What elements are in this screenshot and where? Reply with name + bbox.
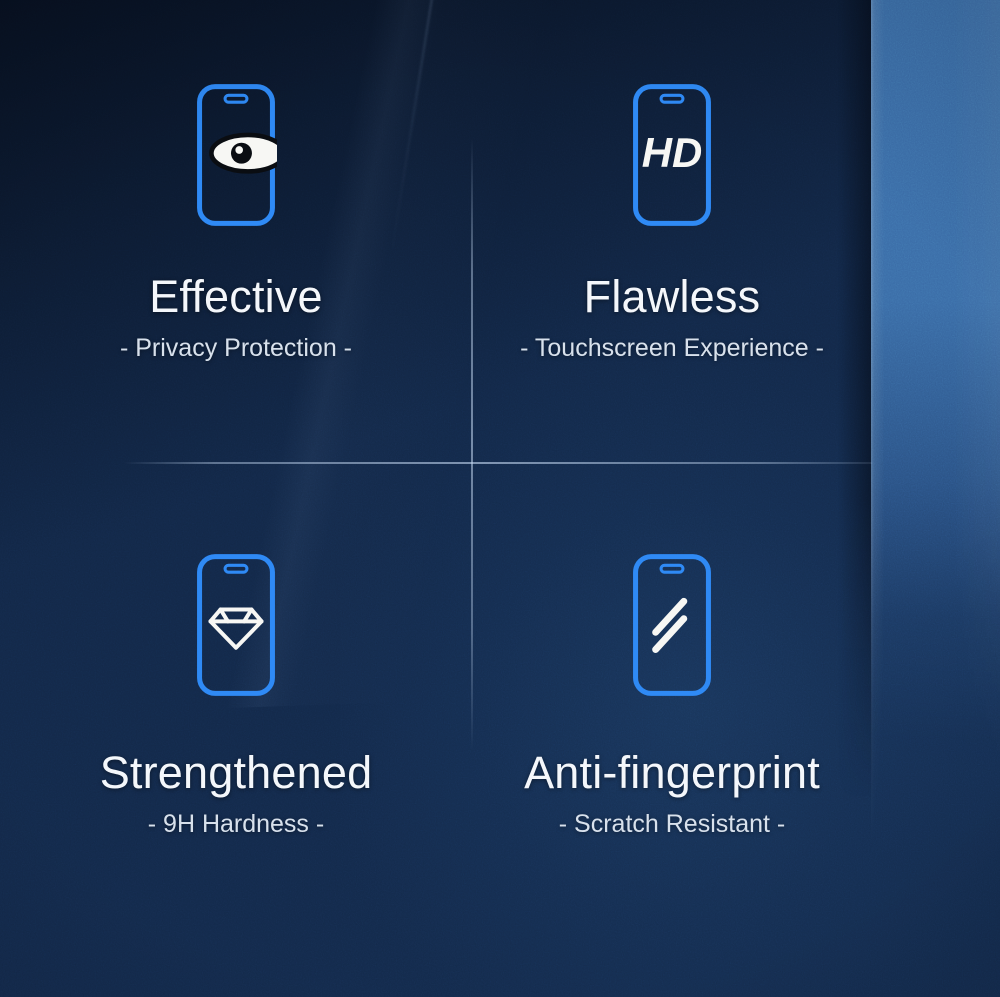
feature-title: Strengthened xyxy=(100,750,373,795)
feature-card-oleophobic: Anti-fingerprint - Scratch Resistant - xyxy=(472,462,1000,997)
feature-card-privacy: Effective - Privacy Protection - xyxy=(0,0,472,462)
feature-subtitle: - Touchscreen Experience - xyxy=(520,336,824,361)
feature-subtitle: - 9H Hardness - xyxy=(148,812,324,837)
feature-title: Effective xyxy=(149,274,323,319)
feature-subtitle: - Scratch Resistant - xyxy=(559,812,785,837)
hd-label: HD xyxy=(642,129,703,176)
phone-eye-icon xyxy=(195,80,277,230)
feature-title: Flawless xyxy=(584,274,761,319)
phone-diamond-icon xyxy=(195,550,277,700)
feature-title: Anti-fingerprint xyxy=(524,750,820,795)
feature-card-clarity: HD Flawless - Touchscreen Experience - xyxy=(472,0,1000,462)
phone-hd-icon: HD xyxy=(631,80,713,230)
feature-grid: Effective - Privacy Protection - HD Flaw… xyxy=(0,0,1000,997)
feature-card-hardness: Strengthened - 9H Hardness - xyxy=(0,462,472,997)
feature-subtitle: - Privacy Protection - xyxy=(120,336,352,361)
feature-banner: Effective - Privacy Protection - HD Flaw… xyxy=(0,0,1000,997)
phone-shine-icon xyxy=(631,550,713,700)
